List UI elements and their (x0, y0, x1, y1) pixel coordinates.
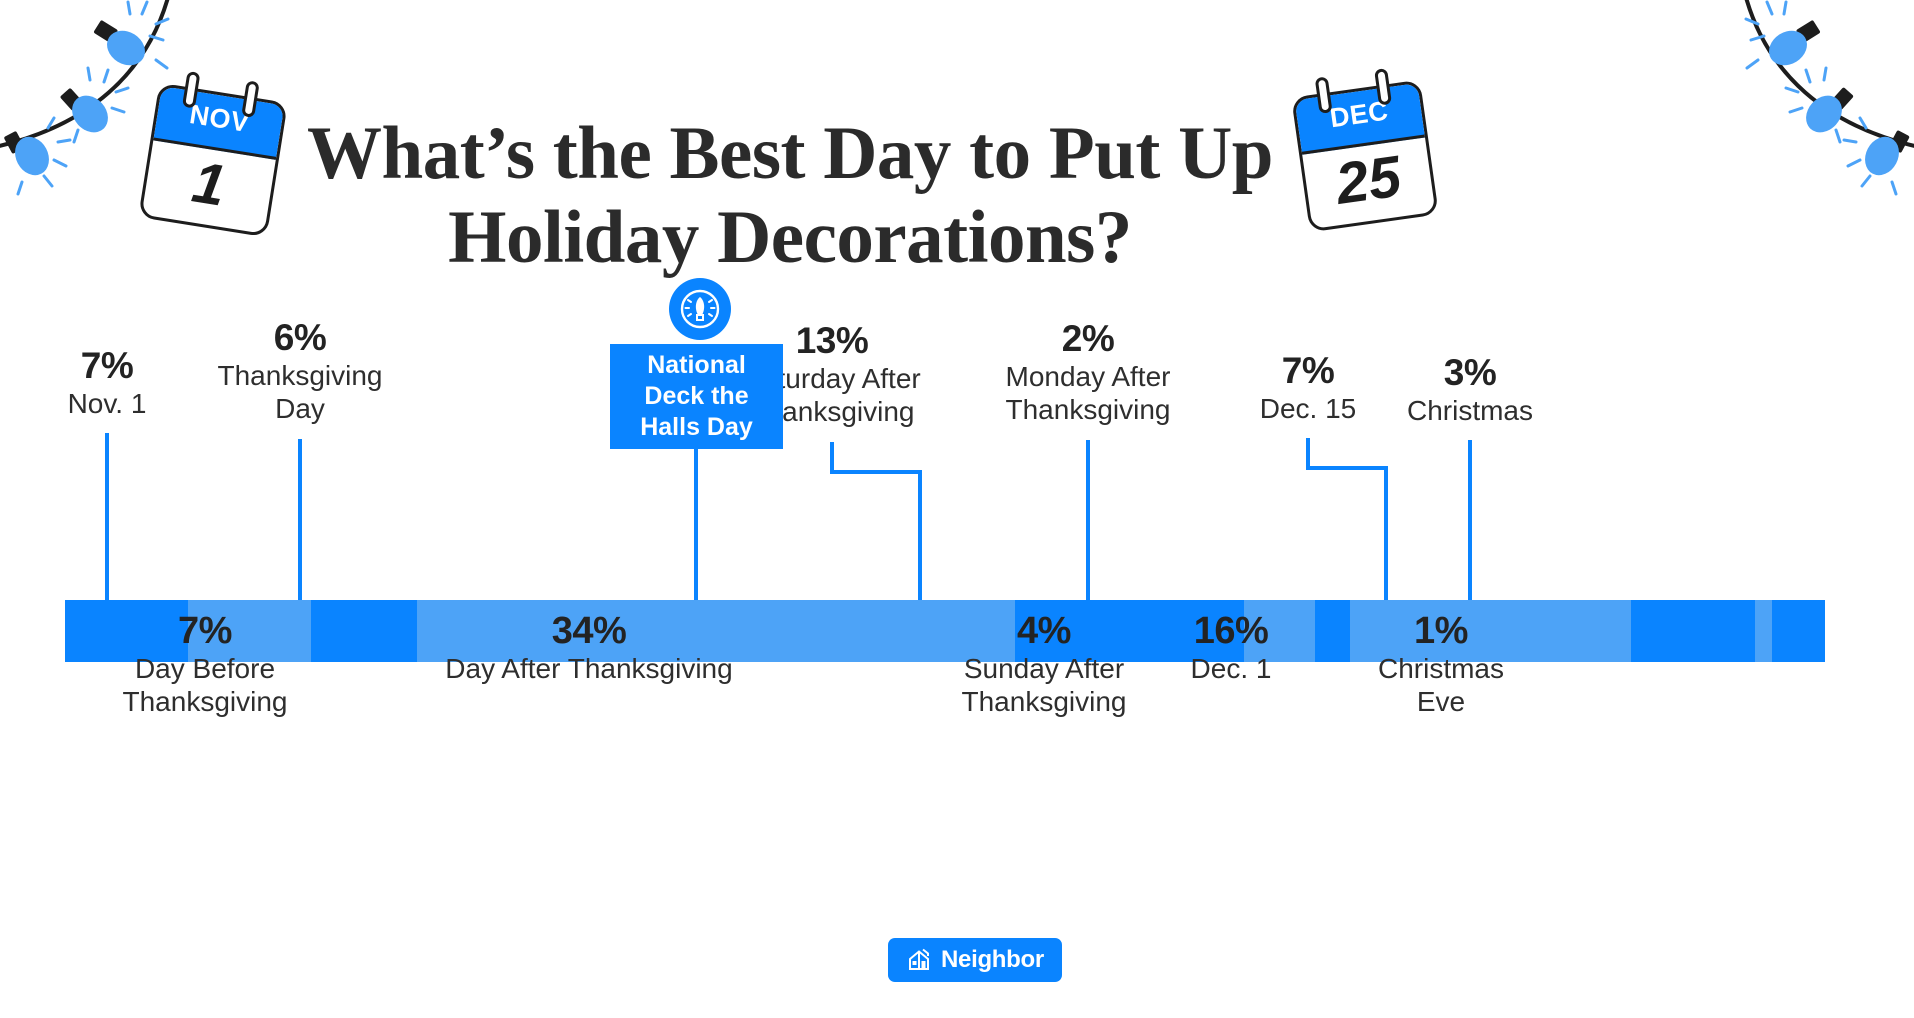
callout-percent: 2% (938, 318, 1238, 360)
string-lights-right-icon (1494, 0, 1914, 230)
national-deck-the-halls-day-badge: National Deck the Halls Day (610, 344, 783, 449)
callout-percent: 7% (65, 610, 345, 652)
callout-percent: 1% (1321, 610, 1561, 652)
holiday-bulb-icon (669, 278, 731, 340)
callout: 2%Monday After Thanksgiving (938, 318, 1238, 426)
callout-percent: 34% (369, 610, 809, 652)
house-icon (906, 947, 932, 973)
callout-label: Christmas (1355, 394, 1585, 427)
callout-label: Day Before Thanksgiving (65, 652, 345, 718)
connector-line (832, 442, 920, 600)
page-title: What’s the Best Day to Put Up Holiday De… (280, 112, 1300, 280)
callout: 3%Christmas (1355, 352, 1585, 427)
callout-label: Thanksgiving Day (170, 359, 430, 425)
bar-segment (1772, 600, 1825, 662)
callout-percent: 16% (1121, 610, 1341, 652)
callout-percent: 6% (170, 317, 430, 359)
bar-segment (1631, 600, 1754, 662)
title-line-2: Holiday Decorations? (280, 196, 1300, 280)
callout-label: Day After Thanksgiving (369, 652, 809, 685)
callout-label: Dec. 1 (1121, 652, 1341, 685)
calendar-sheet: NOV 1 (138, 83, 288, 238)
calendar-dec-25-icon: DEC 25 (1291, 80, 1439, 233)
callout-label: Christmas Eve (1321, 652, 1561, 718)
logo-text: Neighbor (941, 946, 1044, 974)
callout-label: Monday After Thanksgiving (938, 360, 1238, 426)
callout: 6%Thanksgiving Day (170, 317, 430, 425)
calendar-nov-1-icon: NOV 1 (138, 83, 288, 238)
calendar-sheet: DEC 25 (1291, 80, 1439, 233)
neighbor-logo[interactable]: Neighbor (888, 938, 1062, 982)
connector-line (1308, 438, 1386, 600)
callout: 16%Dec. 1 (1121, 610, 1341, 685)
title-line-1: What’s the Best Day to Put Up (307, 112, 1273, 195)
callout-percent: 3% (1355, 352, 1585, 394)
infographic-canvas: What’s the Best Day to Put Up Holiday De… (0, 0, 1914, 1018)
callout: 34%Day After Thanksgiving (369, 610, 809, 685)
callout: 1%Christmas Eve (1321, 610, 1561, 718)
bar-segment (1755, 600, 1773, 662)
callout: 7%Day Before Thanksgiving (65, 610, 345, 718)
